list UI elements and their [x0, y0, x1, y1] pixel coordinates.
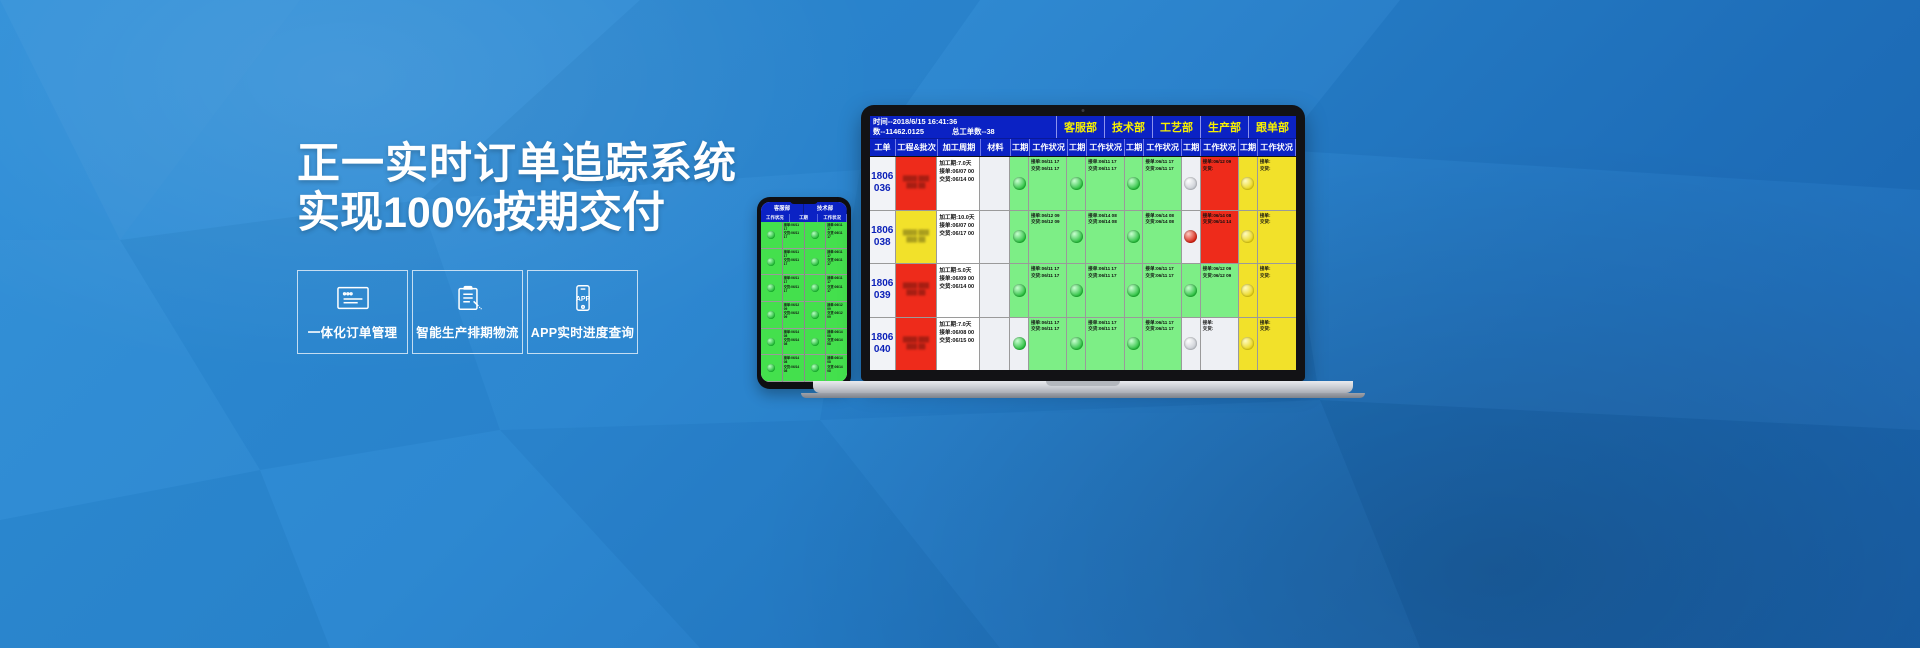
row-line: 接单:06/12 09 [827, 303, 846, 311]
cycle-line: 接单:06/08 00 [939, 329, 977, 337]
status-line: 交货:06/11 17 [1031, 166, 1064, 172]
cell-status[interactable]: 接单:06/11 17交货:06/11 17 [1143, 264, 1181, 316]
cell-duration[interactable] [1239, 211, 1258, 263]
laptop-lid: 时间--2018/6/15 16:41:36 数--11462.0125总工单数… [861, 105, 1305, 381]
status-lamp-icon [1070, 284, 1083, 297]
status-lamp-icon [811, 258, 819, 266]
wo-suffix: 036 [874, 183, 891, 195]
table-row[interactable]: 1806 036 ████ ██████ ██ 加工期:7.0天 接单:06/0… [870, 157, 1296, 210]
cell-status[interactable]: 接单:交货: [1258, 157, 1296, 209]
status-lamp-icon [811, 338, 819, 346]
phone-screen[interactable]: 客服部 技术部 工作状况 工期 工作状况 接单:06/11 17交货:06 [761, 202, 847, 382]
cell-duration[interactable] [1010, 264, 1029, 316]
status-lamp-icon [1241, 177, 1254, 190]
cycle-line: 加工期:10.0天 [939, 214, 977, 222]
laptop-mockup: 时间--2018/6/15 16:41:36 数--11462.0125总工单数… [861, 105, 1375, 435]
status-lamp-icon [1070, 337, 1083, 350]
status-lamp-icon [1013, 337, 1026, 350]
phone-column-text-a: 接单:06/11 17交货:06/11 17 接单:06/11 17交货:06/… [783, 222, 805, 382]
list-item[interactable]: 接单:06/11 17交货:06/11 17 [783, 222, 804, 249]
status-lamp-icon [1241, 337, 1254, 350]
status-lamp-icon [767, 364, 775, 372]
row-line: 接单:06/14 08 [827, 330, 846, 338]
status-lamp-icon [767, 258, 775, 266]
status-line: 交货:06/14 08 [1145, 219, 1178, 225]
department-kefu: 客服部 [1056, 116, 1104, 138]
list-item[interactable] [805, 249, 826, 276]
list-item[interactable] [805, 329, 826, 356]
cell-duration[interactable] [1239, 157, 1258, 209]
cell-duration[interactable] [1125, 157, 1144, 209]
cell-status[interactable]: 接单:交货: [1258, 211, 1296, 263]
feature-label: APP实时进度查询 [531, 322, 634, 341]
row-line: 接单:06/12 09 [784, 303, 803, 311]
cell-work-order[interactable]: 1806 040 [870, 318, 896, 370]
row-line: 接单:06/11 17 [827, 276, 846, 284]
status-lamp-icon [1127, 284, 1140, 297]
wo-prefix: 1806 [871, 225, 893, 237]
cell-duration[interactable] [1182, 318, 1201, 370]
cell-status[interactable]: 接单:06/14 08交货:06/14 08 [1086, 211, 1124, 263]
list-item[interactable]: 接单:06/14 08交货:06/14 08 [783, 355, 804, 382]
row-line: 接单:06/11 17 [827, 223, 846, 231]
status-lamp-icon [1127, 177, 1140, 190]
row-line: 接单:06/14 08 [784, 356, 803, 364]
project-name-redacted: ████ ██████ ██ [898, 176, 933, 190]
status-line: 交货:06/14 14 [1203, 219, 1236, 225]
row-line: 交货:06/12 09 [827, 311, 846, 319]
cell-status[interactable]: 接单:交货: [1258, 318, 1296, 370]
status-lamp-icon [1184, 230, 1197, 243]
row-line: 交货:06/11 17 [784, 285, 803, 293]
cell-duration[interactable] [1067, 264, 1086, 316]
cell-duration[interactable] [1125, 318, 1144, 370]
svg-text:APP: APP [575, 296, 590, 303]
banner-copy: 正一实时订单追踪系统 实现100%按期交付 一体化订单管理 [297, 140, 717, 354]
col-status-2: 工作状况 [1144, 139, 1182, 156]
laptop-screen[interactable]: 时间--2018/6/15 16:41:36 数--11462.0125总工单数… [870, 116, 1296, 370]
cycle-line: 接单:06/07 00 [939, 222, 977, 230]
status-line: 交货:06/12 09 [1031, 219, 1064, 225]
list-item[interactable] [761, 275, 782, 302]
row-line: 交货:06/14 08 [827, 338, 846, 346]
headline-line-2: 实现100%按期交付 [297, 189, 717, 238]
cell-duration[interactable] [1010, 211, 1029, 263]
status-lamp-icon [767, 338, 775, 346]
col-status-4: 工作状况 [1258, 139, 1296, 156]
list-item[interactable]: 接单:06/12 09交货:06/12 09 [783, 302, 804, 329]
status-lamp-icon [811, 311, 819, 319]
list-item[interactable] [761, 222, 782, 249]
cell-duration[interactable] [1182, 157, 1201, 209]
row-line: 接单:06/11 17 [784, 276, 803, 284]
cell-cycle[interactable]: 加工期:10.0天 接单:06/07 00 交货:06/17 00 [937, 211, 980, 263]
list-item[interactable]: 接单:06/11 17交货:06/11 17 [783, 249, 804, 276]
cell-status[interactable]: 接单:06/12 09交货:06/12 09 [1201, 264, 1239, 316]
device-group: 客服部 技术部 工作状况 工期 工作状况 接单:06/11 17交货:06 [735, 105, 1375, 435]
cell-status[interactable]: 接单:06/12 09交货:06/12 09 [1029, 211, 1067, 263]
page-title: 正一实时订单追踪系统 实现100%按期交付 [297, 140, 717, 238]
status-line: 接单:06/11 17 [1088, 320, 1121, 326]
cell-project[interactable]: ████ ██████ ██ [896, 157, 938, 209]
cycle-line: 接单:06/07 00 [939, 168, 977, 176]
wo-suffix: 038 [874, 237, 891, 249]
wo-suffix: 039 [874, 290, 891, 302]
list-item[interactable] [805, 302, 826, 329]
status-lamp-icon [1184, 177, 1197, 190]
clipboard-icon [452, 283, 484, 313]
project-name-redacted: ████ ██████ ██ [898, 230, 933, 244]
cell-status[interactable]: 接单:06/11 17交货:06/11 17 [1143, 157, 1181, 209]
col-duration-0: 工期 [1011, 139, 1030, 156]
status-lamp-icon [767, 311, 775, 319]
cell-duration[interactable] [1125, 211, 1144, 263]
headline-line-1: 正一实时订单追踪系统 [297, 140, 717, 189]
status-line: 接单:06/11 17 [1145, 320, 1178, 326]
row-line: 接单:06/14 08 [827, 356, 846, 364]
cycle-line: 交货:06/14 00 [939, 283, 977, 291]
cell-status[interactable]: 接单:06/11 17交货:06/11 17 [1143, 318, 1181, 370]
list-item[interactable]: 接单:06/11 17交货:06/11 17 [783, 275, 804, 302]
cycle-line: 加工期:7.0天 [939, 160, 977, 168]
col-status-0: 工作状况 [1030, 139, 1068, 156]
cell-status[interactable]: 接单:06/12 09交货: [1201, 157, 1239, 209]
col-status-3: 工作状况 [1201, 139, 1239, 156]
wo-suffix: 040 [874, 344, 891, 356]
list-item[interactable]: 接单:06/11 17交货:06/11 17 [826, 275, 847, 302]
row-line: 交货:06/14 08 [827, 365, 846, 373]
status-lamp-icon [1013, 284, 1026, 297]
cell-status[interactable]: 接单:06/14 08交货:06/14 14 [1201, 211, 1239, 263]
feature-item-app-tracking[interactable]: APP APP实时进度查询 [527, 270, 638, 354]
status-count: 数--11462.0125 [873, 127, 924, 136]
phone-col-0: 工作状况 [761, 214, 790, 222]
row-line: 交货:06/11 17 [784, 231, 803, 239]
cell-duration[interactable] [1239, 264, 1258, 316]
status-line: 交货: [1260, 219, 1294, 225]
row-line: 交货:06/14 08 [784, 338, 803, 346]
cell-status[interactable]: 接单:06/14 08交货:06/14 08 [1143, 211, 1181, 263]
cell-duration[interactable] [1182, 264, 1201, 316]
feature-label: 一体化订单管理 [308, 322, 398, 341]
laptop-base [813, 381, 1353, 393]
status-lamp-icon [811, 231, 819, 239]
list-item[interactable]: 接单:06/11 17交货:06/11 17 [826, 222, 847, 249]
department-gongyi: 工艺部 [1152, 116, 1200, 138]
cell-cycle[interactable]: 加工期:5.0天 接单:06/09 00 交货:06/14 00 [937, 264, 980, 316]
phone-col-1: 工期 [790, 214, 819, 222]
status-lamp-icon [1184, 284, 1197, 297]
department-jishu: 技术部 [1104, 116, 1152, 138]
cycle-line: 交货:06/17 00 [939, 230, 977, 238]
list-item[interactable]: 接单:06/14 08交货:06/14 08 [783, 329, 804, 356]
status-line: 交货: [1260, 273, 1294, 279]
list-item[interactable]: 接单:06/14 08交货:06/14 08 [826, 355, 847, 382]
status-lamp-icon [811, 284, 819, 292]
status-lamp-icon [767, 231, 775, 239]
status-lamp-icon [1127, 230, 1140, 243]
list-item[interactable] [805, 355, 826, 382]
feature-item-smart-scheduling[interactable]: 智能生产排期物流 [412, 270, 523, 354]
cell-duration[interactable] [1125, 264, 1144, 316]
cell-work-order[interactable]: 1806 038 [870, 211, 896, 263]
feature-label: 智能生产排期物流 [416, 322, 518, 341]
col-duration-2: 工期 [1125, 139, 1144, 156]
col-cycle: 加工周期 [938, 139, 980, 156]
status-line: 交货:06/14 08 [1088, 219, 1121, 225]
phone-column-text-b: 接单:06/11 17交货:06/11 17 接单:06/11 17交货:06/… [826, 222, 847, 382]
status-total: 总工单数--38 [952, 127, 995, 136]
department-shengchan: 生产部 [1200, 116, 1248, 138]
row-line: 交货:06/11 17 [784, 258, 803, 266]
cell-project[interactable]: ████ ██████ ██ [896, 264, 938, 316]
phone-table-body: 接单:06/11 17交货:06/11 17 接单:06/11 17交货:06/… [761, 222, 847, 382]
status-line: 交货:06/11 17 [1145, 166, 1178, 172]
dashboard-header: 时间--2018/6/15 16:41:36 数--11462.0125总工单数… [870, 116, 1296, 139]
feature-item-order-management[interactable]: 一体化订单管理 [297, 270, 408, 354]
cell-material[interactable] [980, 211, 1010, 263]
phone-mockup: 客服部 技术部 工作状况 工期 工作状况 接单:06/11 17交货:06 [757, 197, 851, 389]
cell-status[interactable]: 接单:06/11 17交货:06/11 17 [1029, 264, 1067, 316]
list-item[interactable] [761, 249, 782, 276]
phone-col-2: 工作状况 [818, 214, 847, 222]
cell-status[interactable]: 接单:06/11 17交货:06/11 17 [1029, 157, 1067, 209]
status-lamp-icon [1241, 284, 1254, 297]
order-table-body: 1806 036 ████ ██████ ██ 加工期:7.0天 接单:06/0… [870, 157, 1296, 370]
cell-cycle[interactable]: 加工期:7.0天 接单:06/08 00 交货:06/15 00 [937, 318, 980, 370]
status-line: 交货:06/12 09 [1203, 273, 1236, 279]
list-item[interactable] [761, 302, 782, 329]
table-row[interactable]: 1806 039 ████ ██████ ██ 加工期:5.0天 接单:06/0… [870, 264, 1296, 317]
phone-notch [790, 200, 818, 204]
col-material: 材料 [981, 139, 1011, 156]
status-line: 接单:06/12 09 [1203, 159, 1236, 165]
status-lamp-icon [1013, 177, 1026, 190]
feature-list: 一体化订单管理 智能生产排期物流 APP APP实时进度查询 [297, 270, 717, 354]
cell-work-order[interactable]: 1806 039 [870, 264, 896, 316]
col-project: 工程&批次 [896, 139, 938, 156]
cell-project[interactable]: ████ ██████ ██ [896, 318, 938, 370]
status-line: 接单:06/12 09 [1203, 266, 1236, 272]
id-card-icon [337, 283, 369, 313]
cell-material[interactable] [980, 264, 1010, 316]
column-header-row: 工单 工程&批次 加工周期 材料 工期 工作状况 工期 工作状况 工期 工作状况… [870, 139, 1296, 157]
status-time: 时间--2018/6/15 16:41:36 [873, 117, 1053, 127]
status-lamp-icon [1184, 337, 1197, 350]
row-line: 接单:06/11 17 [784, 223, 803, 231]
mobile-app-icon: APP [567, 283, 599, 313]
status-line: 交货:06/11 17 [1031, 326, 1064, 332]
cell-status[interactable]: 接单:交货: [1201, 318, 1239, 370]
department-header-row: 客服部 技术部 工艺部 生产部 跟单部 [1056, 116, 1296, 138]
cell-material[interactable] [980, 157, 1010, 209]
row-line: 交货:06/11 17 [827, 231, 846, 239]
list-item[interactable] [805, 222, 826, 249]
cell-duration[interactable] [1239, 318, 1258, 370]
status-line: 交货:06/11 17 [1088, 273, 1121, 279]
status-counts: 数--11462.0125总工单数--38 [873, 127, 1053, 137]
table-row[interactable]: 1806 038 ████ ██████ ██ 加工期:10.0天 接单:06/… [870, 211, 1296, 264]
table-row[interactable]: 1806 040 ████ ██████ ██ 加工期:7.0天 接单:06/0… [870, 318, 1296, 370]
col-duration-1: 工期 [1068, 139, 1087, 156]
cycle-line: 加工期:7.0天 [939, 321, 977, 329]
list-item[interactable]: 接单:06/12 09交货:06/12 09 [826, 302, 847, 329]
cycle-line: 交货:06/14 00 [939, 176, 977, 184]
status-line: 交货: [1260, 166, 1294, 172]
cell-status[interactable]: 接单:06/11 17交货:06/11 17 [1086, 318, 1124, 370]
status-line: 交货:06/11 17 [1031, 273, 1064, 279]
status-line: 交货:06/11 17 [1088, 166, 1121, 172]
row-line: 交货:06/12 09 [784, 311, 803, 319]
status-line: 交货: [1260, 326, 1294, 332]
status-lamp-icon [1070, 177, 1083, 190]
list-item[interactable] [761, 329, 782, 356]
cycle-line: 交货:06/15 00 [939, 337, 977, 345]
cell-duration[interactable] [1067, 318, 1086, 370]
cell-duration[interactable] [1010, 318, 1029, 370]
status-lamp-icon [811, 364, 819, 372]
status-lamp-icon [1013, 230, 1026, 243]
row-line: 接单:06/11 17 [827, 250, 846, 258]
project-name-redacted: ████ ██████ ██ [898, 283, 933, 297]
row-line: 交货:06/11 17 [827, 285, 846, 293]
col-status-1: 工作状况 [1087, 139, 1125, 156]
status-lamp-icon [1127, 337, 1140, 350]
status-line: 交货:06/11 17 [1145, 273, 1178, 279]
cell-duration[interactable] [1067, 157, 1086, 209]
status-panel: 时间--2018/6/15 16:41:36 数--11462.0125总工单数… [870, 116, 1056, 138]
cell-status[interactable]: 接单:交货: [1258, 264, 1296, 316]
row-line: 接单:06/11 17 [784, 250, 803, 258]
list-item[interactable]: 接单:06/11 17交货:06/11 17 [826, 249, 847, 276]
col-work-order: 工单 [870, 139, 896, 156]
col-duration-3: 工期 [1182, 139, 1201, 156]
project-name-redacted: ████ ██████ ██ [898, 337, 933, 351]
row-line: 接单:06/14 08 [784, 330, 803, 338]
status-line: 交货: [1203, 326, 1236, 332]
cell-cycle[interactable]: 加工期:7.0天 接单:06/07 00 交货:06/14 00 [937, 157, 980, 209]
status-lamp-icon [767, 284, 775, 292]
department-genddan: 跟单部 [1248, 116, 1296, 138]
webcam-icon [1082, 109, 1085, 112]
status-lamp-icon [1070, 230, 1083, 243]
status-lamp-icon [1241, 230, 1254, 243]
cell-status[interactable]: 接单:06/11 17交货:06/11 17 [1086, 157, 1124, 209]
cell-project[interactable]: ████ ██████ ██ [896, 211, 938, 263]
cell-material[interactable] [980, 318, 1010, 370]
status-line: 交货: [1203, 166, 1236, 172]
laptop-foot [801, 393, 1365, 398]
phone-column-status-a [761, 222, 783, 382]
cell-duration[interactable] [1067, 211, 1086, 263]
cell-status[interactable]: 接单:06/11 17交货:06/11 17 [1086, 264, 1124, 316]
cycle-line: 加工期:5.0天 [939, 267, 977, 275]
cycle-line: 接单:06/09 00 [939, 275, 977, 283]
list-item[interactable] [761, 355, 782, 382]
wo-prefix: 1806 [871, 278, 893, 290]
cell-status[interactable]: 接单:06/11 17交货:06/11 17 [1029, 318, 1067, 370]
list-item[interactable]: 接单:06/14 08交货:06/14 08 [826, 329, 847, 356]
status-line: 交货:06/11 17 [1145, 326, 1178, 332]
phone-col-header: 工作状况 工期 工作状况 [761, 214, 847, 222]
cell-duration[interactable] [1010, 157, 1029, 209]
row-line: 交货:06/11 17 [827, 258, 846, 266]
wo-prefix: 1806 [871, 332, 893, 344]
col-duration-4: 工期 [1239, 139, 1258, 156]
phone-column-status-b [805, 222, 827, 382]
row-line: 交货:06/14 08 [784, 365, 803, 373]
status-line: 交货:06/11 17 [1088, 326, 1121, 332]
wo-prefix: 1806 [871, 171, 893, 183]
cell-duration[interactable] [1182, 211, 1201, 263]
list-item[interactable] [805, 275, 826, 302]
cell-work-order[interactable]: 1806 036 [870, 157, 896, 209]
